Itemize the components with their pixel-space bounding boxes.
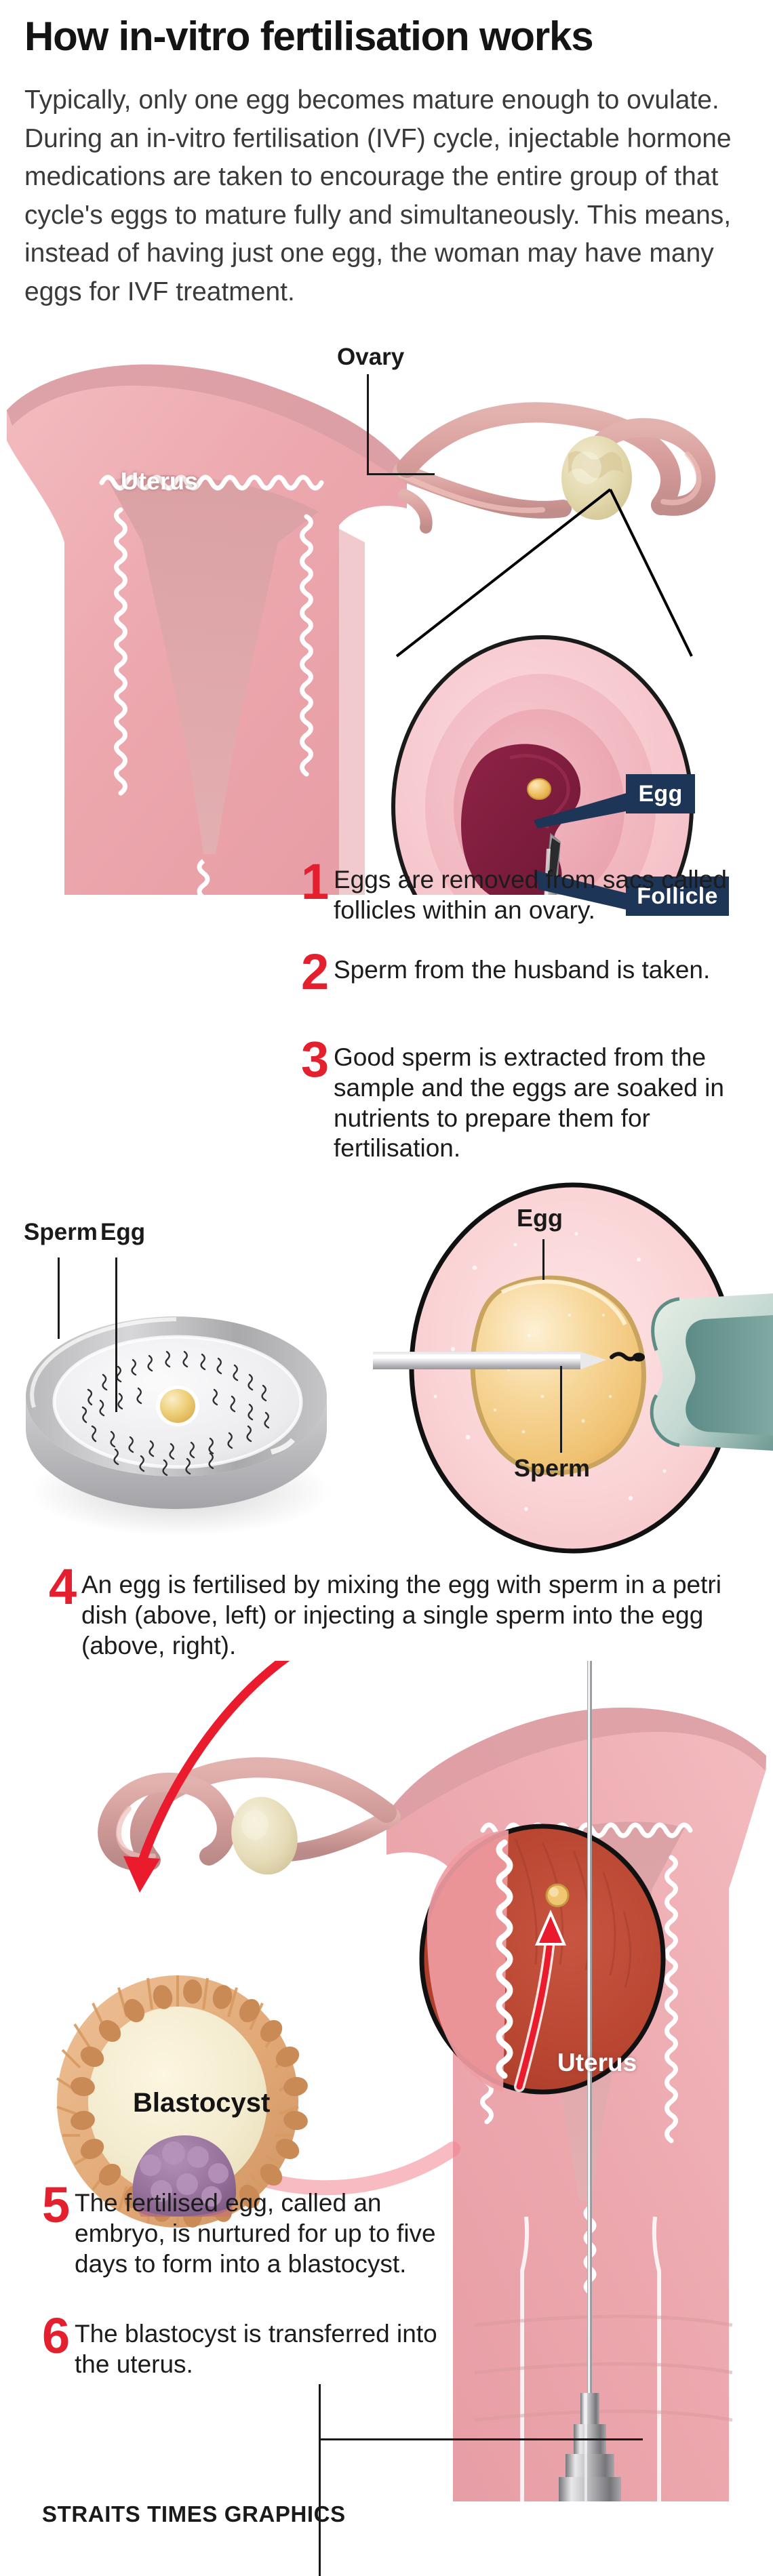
infographic-page: How in-vitro fertilisation works Typical… — [0, 0, 773, 2560]
page-title: How in-vitro fertilisation works — [24, 15, 743, 58]
egg-label-petri: Egg — [100, 1219, 145, 1246]
step-2: 2 Sperm from the husband is taken. — [301, 951, 749, 993]
catheter-leader-line — [319, 2438, 643, 2440]
step-5-text: The fertilised egg, called an embryo, is… — [75, 2184, 476, 2279]
uterus-label-retrieval: Uterus — [121, 467, 198, 496]
step-2-text: Sperm from the husband is taken. — [334, 951, 710, 986]
step-4-number: 4 — [49, 1566, 77, 1608]
step-3: 3 Good sperm is extracted from the sampl… — [301, 1039, 762, 1164]
step-1-number: 1 — [301, 861, 330, 903]
step-3-text: Good sperm is extracted from the sample … — [334, 1039, 762, 1164]
credit-line: STRAITS TIMES GRAPHICS — [42, 2501, 346, 2527]
uterus-label-transfer: Uterus — [557, 2049, 637, 2077]
step-2-number: 2 — [301, 951, 330, 993]
step-6-number: 6 — [42, 2315, 71, 2357]
step-5: 5 The fertilised egg, called an embryo, … — [42, 2184, 476, 2279]
needle-icon — [373, 1352, 606, 1369]
icsi-illustration — [373, 1180, 773, 1559]
blastocyst-label: Blastocyst — [133, 2088, 270, 2118]
ovary-label: Ovary — [337, 344, 404, 371]
step-5-number: 5 — [42, 2184, 71, 2226]
step-1: 1 Eggs are removed from sacs called foll… — [301, 861, 749, 926]
step-6: 6 The blastocyst is transferred into the… — [42, 2315, 449, 2380]
step-3-number: 3 — [301, 1039, 330, 1081]
sperm-label-icsi: Sperm — [514, 1454, 590, 1483]
step-6-text: The blastocyst is transferred into the u… — [75, 2315, 449, 2380]
egg-leader-icsi — [542, 1239, 544, 1280]
egg-callout-label: Egg — [638, 781, 682, 807]
step-1-text: Eggs are removed from sacs called follic… — [334, 861, 749, 926]
ovary-leader-horizontal — [367, 473, 435, 475]
egg-leader-petri — [115, 1257, 117, 1412]
step-4-text: An egg is fertilised by mixing the egg w… — [81, 1566, 747, 1661]
intro-paragraph: Typically, only one egg becomes mature e… — [24, 81, 740, 311]
sperm-leader-petri — [58, 1257, 60, 1339]
sperm-leader-icsi — [560, 1366, 562, 1453]
ovary-leader-vertical — [367, 374, 369, 475]
egg-callout-box: Egg — [626, 774, 695, 813]
catheter-leader-vertical — [319, 2384, 321, 2576]
egg-label-icsi: Egg — [517, 1204, 563, 1232]
step-4: 4 An egg is fertilised by mixing the egg… — [49, 1566, 747, 1661]
sperm-label-petri: Sperm — [24, 1219, 98, 1246]
